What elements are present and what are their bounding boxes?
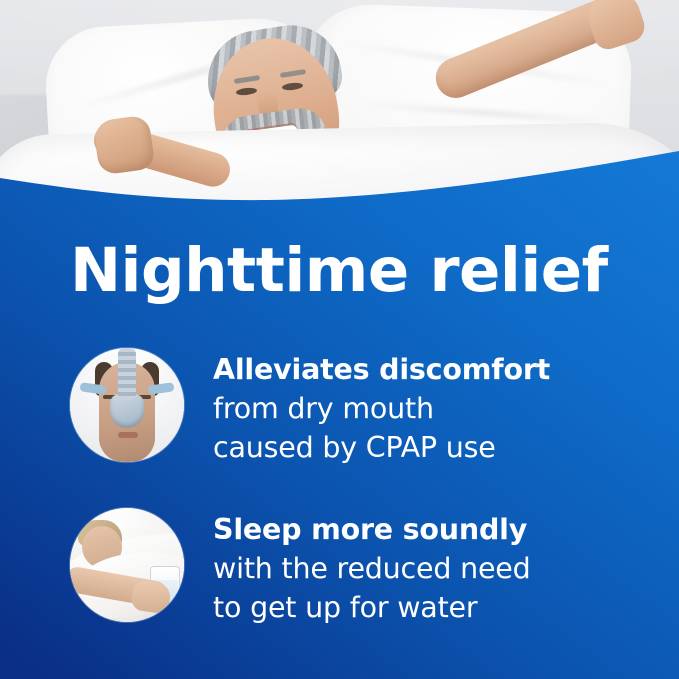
product-feature-banner: Nighttime relief Alleviates discomfort f… — [0, 0, 679, 679]
patient-mouth — [118, 432, 138, 438]
feature-line: from dry mouth — [213, 389, 550, 428]
feature-line: with the reduced need — [213, 549, 531, 588]
panel-content: Nighttime relief Alleviates discomfort f… — [0, 0, 679, 679]
feature-line: Sleep more soundly — [213, 510, 531, 549]
cpap-mask-user-photo — [70, 348, 184, 462]
sleeping-with-water-glass-photo — [70, 508, 184, 622]
feature-line: caused by CPAP use — [213, 428, 550, 467]
feature-line: Alleviates discomfort — [213, 350, 550, 389]
feature-text-block: Alleviates discomfort from dry mouth cau… — [213, 348, 550, 467]
page-title: Nighttime relief — [70, 240, 608, 301]
feature-text-block: Sleep more soundly with the reduced need… — [213, 508, 531, 627]
feature-line: to get up for water — [213, 588, 531, 627]
feature-item-cpap-discomfort: Alleviates discomfort from dry mouth cau… — [70, 348, 550, 467]
feature-item-sleep-soundly: Sleep more soundly with the reduced need… — [70, 508, 531, 627]
cpap-air-tube — [118, 348, 136, 400]
